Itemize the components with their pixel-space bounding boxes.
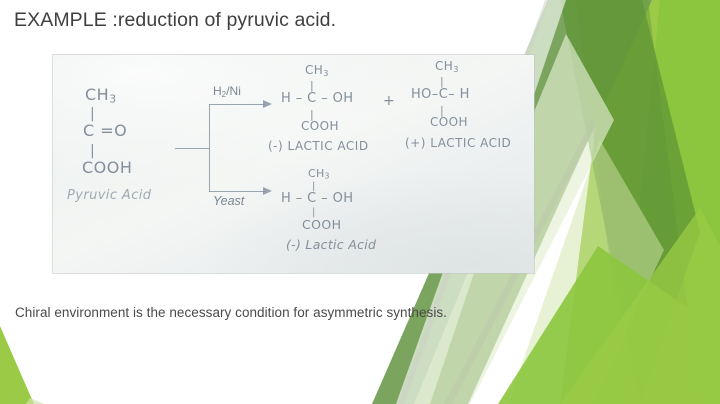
product-c-ch3: CH3: [308, 167, 330, 181]
reactant-ch3-subscript: 3: [109, 92, 116, 105]
product-c-chiral-center: H – C – OH: [281, 191, 353, 206]
handwritten-reaction-photo: CH3 | C =O | COOH Pyruvic Acid H2/Ni Yea…: [53, 55, 534, 273]
product-b-chiral-center: HO–C– H: [411, 87, 470, 102]
arrow-branch-vertical: [209, 104, 210, 192]
product-a-ch3-subscript: 3: [323, 68, 329, 78]
reactant-ch3: CH3: [85, 85, 117, 105]
reactant-carboxyl: COOH: [82, 158, 132, 177]
reaction-arrows: H2/Ni Yeast: [175, 100, 275, 198]
product-a-name: (-) LACTIC ACID: [268, 139, 369, 153]
arrow-bottom-shaft: [209, 191, 265, 192]
arrow-label-catalyst: /Ni: [226, 84, 241, 98]
arrow-label-h2-ni: H2/Ni: [213, 84, 241, 99]
arrow-top-head-icon: [263, 100, 272, 108]
product-a-ch3: CH3: [305, 63, 329, 78]
arrow-bottom-head-icon: [263, 187, 272, 195]
reactant-carbonyl: C =O: [83, 121, 127, 140]
presentation-slide: EXAMPLE :reduction of pyruvic acid. CH3 …: [0, 0, 720, 404]
product-b-name: (+) LACTIC ACID: [405, 136, 511, 150]
decorative-corner-wedge: [0, 324, 70, 404]
product-b-ch3: CH3: [435, 59, 459, 74]
arrow-top-shaft: [209, 104, 265, 105]
slide-caption: Chiral environment is the necessary cond…: [15, 303, 615, 323]
product-b-ch3-subscript: 3: [453, 64, 459, 74]
reactant-name: Pyruvic Acid: [67, 188, 151, 203]
product-a-carboxyl: COOH: [301, 119, 339, 133]
product-c-ch3-subscript: 3: [325, 172, 330, 181]
arrow-label-yeast: Yeast: [213, 194, 244, 208]
product-a-chiral-center: H – C – OH: [281, 91, 353, 106]
arrow-stem: [175, 148, 209, 149]
reactant-bond-1: |: [90, 106, 95, 122]
slide-title: EXAMPLE :reduction of pyruvic acid.: [14, 7, 484, 33]
product-c-carboxyl: COOH: [302, 217, 341, 232]
reactant-bond-2: |: [90, 143, 95, 159]
plus-operator: +: [383, 93, 395, 109]
product-b-carboxyl: COOH: [430, 115, 468, 129]
product-c-name: (-) Lactic Acid: [286, 237, 376, 252]
